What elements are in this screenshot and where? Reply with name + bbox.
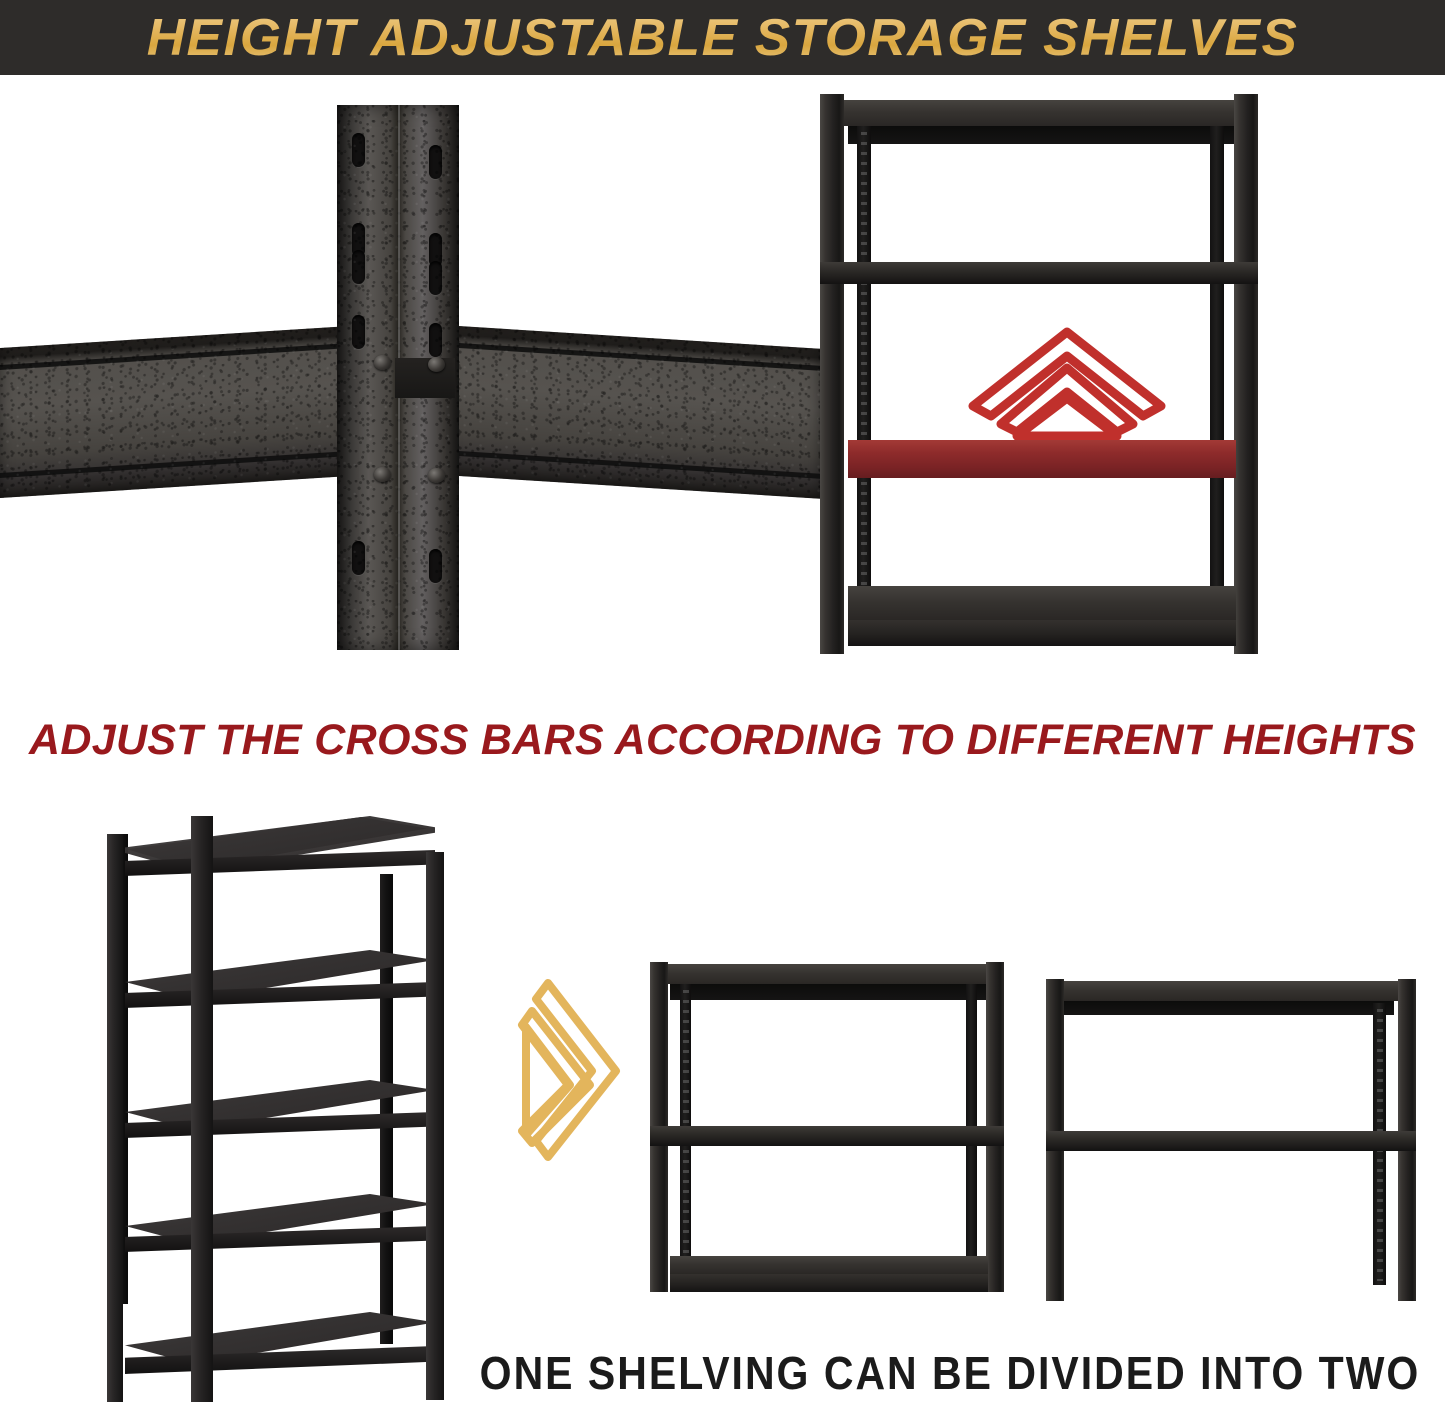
- half-b-top-shelf: [1046, 981, 1416, 1001]
- bolt: [374, 467, 391, 482]
- half-a-middle-beam: [650, 1126, 1004, 1146]
- header-banner: HEIGHT ADJUSTABLE STORAGE SHELVES: [0, 0, 1445, 75]
- adjustable-shelving-diagram: [812, 92, 1282, 662]
- bolt: [374, 355, 391, 370]
- connector-plate: [395, 358, 455, 398]
- leg-front-right: [426, 852, 444, 1400]
- joint-closeup-photo: [110, 105, 710, 650]
- chevron-right-arrows: [512, 975, 622, 1165]
- half-a-bottom-shelf-front: [670, 1274, 988, 1292]
- leg-front-centre: [191, 816, 213, 1402]
- beam-lip-bottom: [447, 450, 820, 478]
- post-slot: [429, 261, 442, 295]
- half-a-top-shelf-underside: [670, 984, 988, 1000]
- caption-divided-into-two: ONE SHELVING CAN BE DIVIDED INTO TWO: [470, 1347, 1430, 1400]
- half-b-top-shelf-underside: [1064, 1001, 1394, 1015]
- post-slot: [352, 133, 365, 167]
- post-slot: [429, 549, 442, 583]
- cross-beam-middle: [820, 262, 1258, 284]
- divided-unit-two-tier: [1040, 975, 1430, 1305]
- five-tier-shelving-unit: [95, 812, 470, 1409]
- top-shelf-underside: [848, 126, 1236, 144]
- caption-adjust-cross-bars: ADJUST THE CROSS BARS ACCORDING TO DIFFE…: [0, 716, 1445, 765]
- post-slot: [429, 145, 442, 179]
- post-left-outer: [820, 94, 844, 654]
- post-slot: [352, 541, 365, 575]
- top-shelf-surface: [834, 100, 1244, 126]
- highlighted-red-beam: [848, 440, 1236, 478]
- chevron-up-arrows: [967, 320, 1167, 440]
- post-left-slots: [861, 132, 867, 627]
- half-a-top-shelf: [652, 964, 1004, 984]
- cross-beam-left: [0, 326, 350, 498]
- leg-back-right: [380, 874, 393, 1344]
- post-right-inner: [1210, 126, 1224, 634]
- leg-front-left: [107, 834, 123, 1402]
- bottom-shelf-surface: [848, 586, 1236, 620]
- cross-beam-right: [447, 325, 820, 498]
- bottom-shelf-front: [848, 620, 1236, 646]
- post-slot: [352, 250, 365, 284]
- post-slot: [429, 323, 442, 357]
- beam-lip-top: [447, 342, 820, 370]
- bolt: [428, 357, 445, 372]
- divided-unit-three-tier: [648, 958, 1008, 1303]
- page-title: HEIGHT ADJUSTABLE STORAGE SHELVES: [147, 8, 1299, 68]
- half-b-middle-beam: [1046, 1131, 1416, 1151]
- post-slot: [352, 315, 365, 349]
- bolt: [428, 468, 445, 483]
- beam-lip-top: [0, 343, 350, 370]
- post-right-outer: [1234, 94, 1258, 654]
- half-a-bottom-shelf: [670, 1256, 988, 1274]
- beam-lip-bottom: [0, 451, 350, 478]
